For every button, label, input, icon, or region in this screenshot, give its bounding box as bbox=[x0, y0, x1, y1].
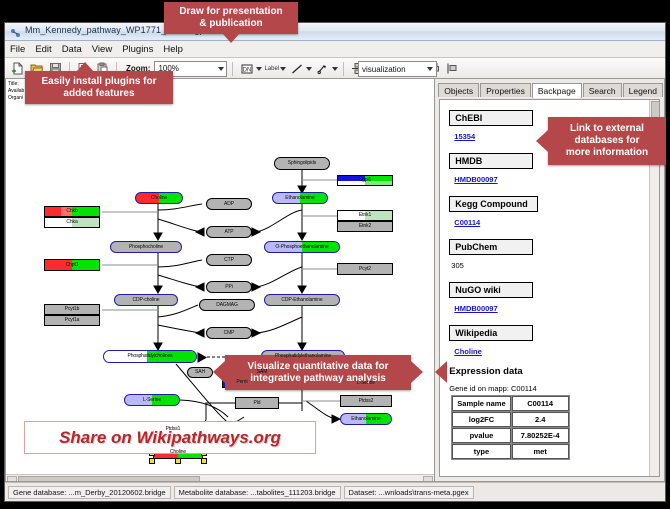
node-phosphatidylcholines[interactable]: Phosphatidylcholines bbox=[103, 350, 197, 363]
db-link-hmdb[interactable]: HMDB00097 bbox=[454, 175, 497, 184]
menu-item-data[interactable]: Data bbox=[62, 44, 82, 55]
menu-item-edit[interactable]: Edit bbox=[35, 44, 51, 55]
node-label: CTP bbox=[224, 258, 234, 263]
node-label: Pld bbox=[254, 401, 261, 406]
db-entry-pubchem: PubChem 305 bbox=[449, 237, 650, 273]
node-label: CDP-Ethanolamine bbox=[281, 298, 322, 303]
table-row: Sample name C00114 bbox=[452, 396, 568, 411]
node-ppi[interactable]: PPi bbox=[206, 281, 252, 293]
node-choline-top[interactable]: Choline bbox=[135, 192, 183, 204]
db-link-wikipedia[interactable]: Choline bbox=[454, 347, 482, 356]
node-dagmag[interactable]: DAGMAG bbox=[199, 299, 255, 311]
label-tool-label: Label bbox=[264, 66, 279, 72]
menu-item-file[interactable]: File bbox=[10, 44, 25, 55]
node-label: Pemt bbox=[236, 380, 247, 385]
status-bar: Gene database: ...m_Derby_20120602.bridg… bbox=[5, 482, 665, 501]
db-name-pubchem: PubChem bbox=[449, 239, 533, 255]
expr-val-sample-name: C00114 bbox=[512, 396, 569, 411]
db-name-wikipedia: Wikipedia bbox=[449, 325, 533, 341]
node-l-serine-left[interactable]: L-Serine bbox=[124, 394, 180, 406]
toolbar-separator-3 bbox=[232, 62, 233, 76]
node-label: Chkb bbox=[66, 209, 77, 214]
node-cdp-choline[interactable]: CDP-choline bbox=[114, 294, 178, 306]
callout-draw-line1: Draw for presentation bbox=[179, 6, 282, 18]
label-tool[interactable]: Label bbox=[264, 66, 286, 72]
expression-table: Sample name C00114 log2FC 2.4 pvalue 7.8… bbox=[451, 395, 569, 460]
expr-val-type: met bbox=[512, 444, 569, 459]
status-gene-database: Gene database: ...m_Derby_20120602.bridg… bbox=[8, 486, 171, 499]
callout-visualize-arrow-panel bbox=[435, 361, 447, 383]
node-label: Etnk2 bbox=[359, 224, 371, 229]
node-label: CDP-choline bbox=[133, 298, 160, 303]
table-row: pvalue 7.80252E-4 bbox=[452, 428, 568, 443]
node-ctp[interactable]: CTP bbox=[206, 254, 252, 266]
node-ptdss2[interactable]: Ptdss2 bbox=[340, 395, 392, 407]
db-name-kegg: Kegg Compound bbox=[449, 196, 538, 212]
node-cdp-ethanolamine[interactable]: CDP-Ethanolamine bbox=[264, 294, 340, 306]
node-label: Phosphocholine bbox=[129, 245, 163, 250]
tab-properties[interactable]: Properties bbox=[480, 83, 531, 97]
node-sphingolipids[interactable]: Sphingolipids bbox=[274, 157, 330, 170]
visualization-combo[interactable]: visualization bbox=[358, 61, 437, 77]
node-etnk2[interactable]: Etnk2 bbox=[337, 221, 393, 232]
node-label: Phosphatidylcholines bbox=[128, 354, 173, 359]
node-label: CMP bbox=[224, 331, 235, 336]
node-label: Chka bbox=[66, 220, 77, 225]
callout-draw-line2: & publication bbox=[199, 18, 262, 30]
tab-objects[interactable]: Objects bbox=[438, 83, 479, 97]
expr-val-pvalue: 7.80252E-4 bbox=[512, 428, 569, 443]
line-icon bbox=[288, 60, 305, 77]
node-label: SAH bbox=[195, 370, 205, 375]
node-chkb[interactable]: Chkb bbox=[44, 206, 100, 217]
menu-item-view[interactable]: View bbox=[92, 44, 112, 55]
node-label: Ethanolamine bbox=[351, 417, 380, 422]
tab-backpage[interactable]: Backpage bbox=[532, 83, 582, 98]
menu-item-help[interactable]: Help bbox=[163, 44, 183, 55]
chevron-down-icon bbox=[256, 67, 262, 71]
expression-overlay-down bbox=[45, 207, 61, 216]
node-label: SAM bbox=[257, 370, 268, 375]
window-titlebar: Mm_Kennedy_pathway_WP1771_45176.gpml bbox=[5, 23, 665, 41]
pathvisio-icon bbox=[10, 26, 21, 37]
node-chpt1[interactable]: Chpt1 bbox=[44, 259, 100, 271]
node-pcyt1b[interactable]: Pcyt1b bbox=[44, 304, 100, 315]
node-label: Pcyt2 bbox=[359, 267, 371, 272]
node-label: O-Phosphoethanolamine bbox=[275, 245, 328, 250]
node-label: Pcyt1a bbox=[65, 318, 80, 323]
expr-key-type: type bbox=[452, 444, 510, 459]
node-o-phosphoethanolamine[interactable]: O-Phosphoethanolamine bbox=[264, 241, 340, 253]
selection-handle-s[interactable] bbox=[175, 458, 181, 464]
node-label: ATP bbox=[224, 230, 233, 235]
screenshot-root: Mm_Kennedy_pathway_WP1771_45176.gpml Fil… bbox=[0, 0, 670, 509]
db-name-hmdb: HMDB bbox=[449, 153, 533, 169]
status-dataset: Dataset: ...wnloads\trans-meta.pgex bbox=[344, 486, 474, 499]
callout-visualize-arrow-right bbox=[411, 361, 423, 383]
chevron-down-icon bbox=[218, 67, 224, 71]
callout-links-arrow bbox=[536, 130, 548, 152]
expr-val-log2fc: 2.4 bbox=[512, 412, 569, 427]
callout-plugins-line1: Easily install plugins for bbox=[41, 76, 156, 88]
node-label: Phosphatidylethanolamine bbox=[275, 354, 331, 359]
node-pcyt1a[interactable]: Pcyt1a bbox=[44, 315, 100, 326]
selection-handle-se[interactable] bbox=[201, 458, 207, 464]
node-etnk1[interactable]: Etnk1 bbox=[337, 210, 393, 221]
datanode-icon: DN bbox=[238, 60, 255, 77]
toolbar-separator-4 bbox=[343, 62, 344, 76]
callout-links: Link to external databases for more info… bbox=[548, 117, 666, 165]
callout-visualize: Visualize quantitative data for integrat… bbox=[225, 355, 411, 390]
callout-plugins-arrow bbox=[76, 62, 94, 72]
db-entry-kegg: Kegg Compound C00114 bbox=[449, 194, 650, 230]
node-label: Pcyt1b bbox=[65, 307, 80, 312]
layer-icon[interactable] bbox=[444, 60, 461, 77]
interaction-icon bbox=[314, 60, 331, 77]
node-atp[interactable]: ATP bbox=[206, 226, 252, 238]
selection-handle-sw[interactable] bbox=[149, 458, 155, 464]
table-row: type met bbox=[452, 444, 568, 459]
node-label: Choline bbox=[151, 196, 167, 201]
db-value-pubchem: 305 bbox=[451, 261, 464, 270]
expr-key-sample-name: Sample name bbox=[452, 396, 510, 411]
expr-key-pvalue: pvalue bbox=[452, 428, 510, 443]
callout-links-line2: databases for bbox=[574, 135, 639, 147]
node-label: DAGMAG bbox=[216, 303, 238, 308]
db-name-nugo: NuGO wiki bbox=[449, 282, 533, 298]
expression-data-heading: Expression data bbox=[449, 366, 650, 377]
interaction-tool[interactable] bbox=[314, 60, 338, 77]
chevron-down-icon bbox=[280, 67, 286, 71]
tab-search[interactable]: Search bbox=[583, 83, 622, 97]
db-link-kegg[interactable]: C00114 bbox=[454, 218, 480, 227]
callout-visualize-arrow-left bbox=[213, 361, 225, 383]
table-row: log2FC 2.4 bbox=[452, 412, 568, 427]
chevron-down-icon bbox=[332, 67, 338, 71]
node-ethanolamine-right[interactable]: Ethanolamine bbox=[340, 413, 392, 425]
node-label: PPi bbox=[225, 285, 232, 290]
canvas-hscrollbar[interactable] bbox=[6, 474, 434, 482]
callout-plugins: Easily install plugins for added feature… bbox=[25, 71, 173, 104]
node-label: Sphingolipids bbox=[288, 161, 316, 166]
node-label: Sgpl1 bbox=[359, 178, 371, 183]
node-chka[interactable]: Chka bbox=[44, 217, 100, 228]
callout-plugins-line2: added features bbox=[63, 88, 134, 100]
new-file-icon[interactable] bbox=[9, 60, 26, 77]
node-adp[interactable]: ADP bbox=[206, 198, 252, 210]
callout-links-line1: Link to external bbox=[570, 123, 644, 135]
callout-draw: Draw for presentation & publication bbox=[164, 2, 298, 34]
node-cmp[interactable]: CMP bbox=[206, 327, 252, 339]
node-label: Ptdss2 bbox=[359, 399, 374, 404]
node-label: L-Serine bbox=[143, 398, 161, 403]
db-link-chebi[interactable]: 15354 bbox=[454, 132, 475, 141]
node-pld[interactable]: Pld bbox=[235, 397, 279, 409]
status-metabolite-database: Metabolite database: ...tabolites_111203… bbox=[174, 486, 341, 499]
svg-text:DN: DN bbox=[243, 67, 252, 73]
db-entry-nugo: NuGO wiki HMDB00097 bbox=[449, 280, 650, 316]
tab-legend[interactable]: Legend bbox=[623, 83, 663, 97]
node-sah[interactable]: SAH bbox=[187, 367, 213, 378]
expr-key-log2fc: log2FC bbox=[452, 412, 510, 427]
side-panel-tabs: Objects Properties Backpage Search Legen… bbox=[435, 82, 664, 97]
node-ethanolamine[interactable]: Ethanolamine bbox=[272, 192, 328, 204]
node-label: Chpt1 bbox=[66, 263, 79, 268]
node-sgpl1[interactable]: Sgpl1 bbox=[337, 175, 393, 186]
db-link-nugo[interactable]: HMDB00097 bbox=[454, 304, 497, 313]
chevron-down-icon bbox=[427, 67, 433, 71]
datanode-tool[interactable]: DN bbox=[238, 60, 262, 77]
db-name-chebi: ChEBI bbox=[449, 110, 533, 126]
line-tool[interactable] bbox=[288, 60, 312, 77]
node-label: Ptdss1 bbox=[166, 427, 181, 432]
callout-draw-arrow bbox=[222, 33, 240, 43]
callout-visualize-line1: Visualize quantitative data for bbox=[248, 361, 389, 373]
db-entry-wikipedia: Wikipedia Choline bbox=[449, 323, 650, 359]
node-label: L-Serine bbox=[357, 381, 375, 386]
node-label: Choline bbox=[170, 450, 186, 455]
node-pcyt2[interactable]: Pcyt2 bbox=[337, 263, 393, 275]
callout-links-line3: more information bbox=[566, 147, 648, 159]
node-label: Ethanolamine bbox=[285, 196, 314, 201]
node-label: ADP bbox=[224, 202, 234, 207]
gene-id-on-mapp: Gene id on mapp: C00114 bbox=[449, 384, 650, 393]
visualization-value: visualization bbox=[362, 65, 406, 74]
node-phosphocholine[interactable]: Phosphocholine bbox=[110, 241, 182, 253]
chevron-down-icon bbox=[306, 67, 312, 71]
menu-item-plugins[interactable]: Plugins bbox=[122, 44, 153, 55]
node-label: Etnk1 bbox=[359, 213, 371, 218]
menu-bar: File Edit Data View Plugins Help bbox=[5, 41, 665, 58]
